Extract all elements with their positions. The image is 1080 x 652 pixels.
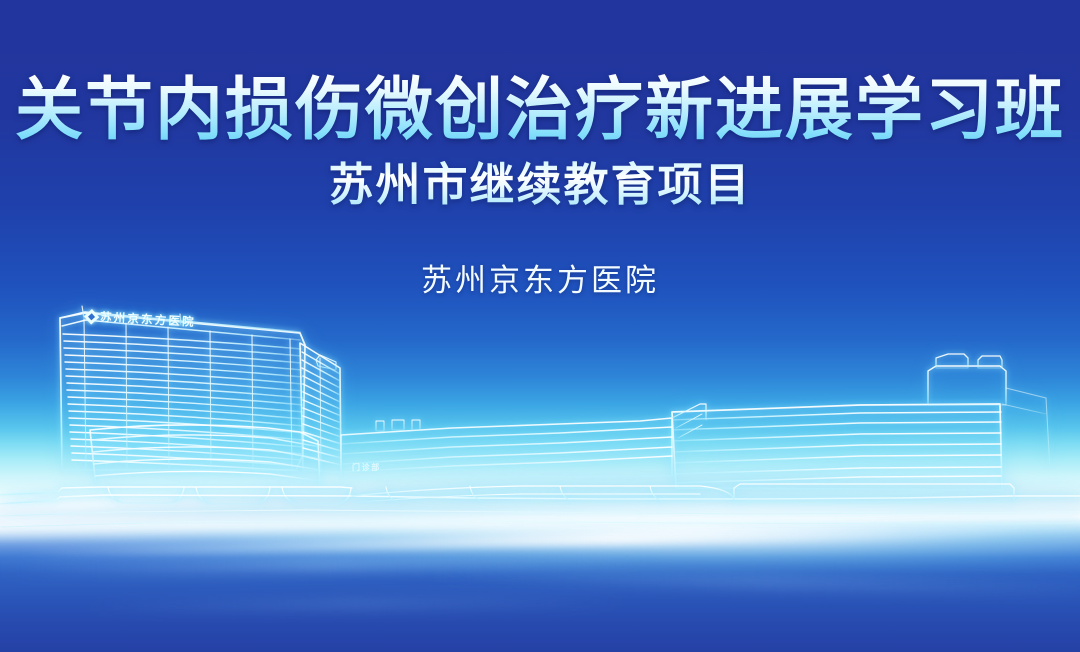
page-title: 关节内损伤微创治疗新进展学习班 bbox=[0, 0, 1080, 144]
page-subtitle: 苏州市继续教育项目 bbox=[0, 144, 1080, 209]
organization-name: 苏州京东方医院 bbox=[0, 209, 1080, 300]
title-block: 关节内损伤微创治疗新进展学习班 苏州市继续教育项目 苏州京东方医院 bbox=[0, 0, 1080, 300]
poster-canvas: 苏州京东方医院 门诊部 关节内损伤微创治疗新进展学习班 苏州市继续教育项目 苏州… bbox=[0, 0, 1080, 652]
